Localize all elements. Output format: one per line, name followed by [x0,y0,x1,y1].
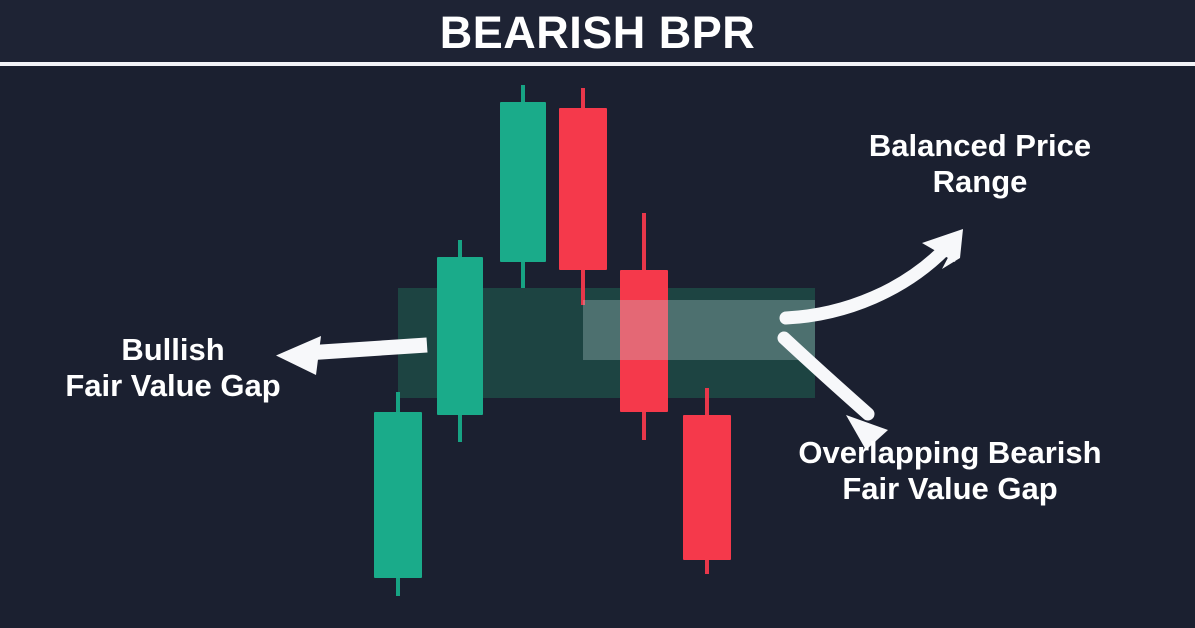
label-overlapping-bearish-fair-value-gap: Overlapping Bearish Fair Value Gap [735,435,1165,507]
zone-overlapping-bearish-fair-value-gap [583,300,815,360]
label-line-2: Fair Value Gap [8,368,338,404]
label-line-1: Overlapping Bearish [735,435,1165,471]
candle-body [500,102,546,262]
candle-2-bullish [437,66,483,628]
label-line-2: Range [800,164,1160,200]
candle-body [683,415,731,560]
candle-3-bullish [500,66,546,628]
label-balanced-price-range: Balanced Price Range [800,128,1160,200]
label-line-2: Fair Value Gap [735,471,1165,507]
diagram-canvas: BEARISH BPR [0,0,1195,628]
candlestick-chart: Bullish Fair Value Gap Balanced Price Ra… [0,66,1195,628]
label-line-1: Bullish [8,332,338,368]
candle-body [559,108,607,270]
candle-body [374,412,422,578]
header-bar: BEARISH BPR [0,0,1195,63]
candle-1-bullish [374,66,422,628]
label-line-1: Balanced Price [800,128,1160,164]
label-bullish-fair-value-gap: Bullish Fair Value Gap [8,332,338,404]
page-title: BEARISH BPR [440,10,756,55]
candle-body [437,257,483,415]
